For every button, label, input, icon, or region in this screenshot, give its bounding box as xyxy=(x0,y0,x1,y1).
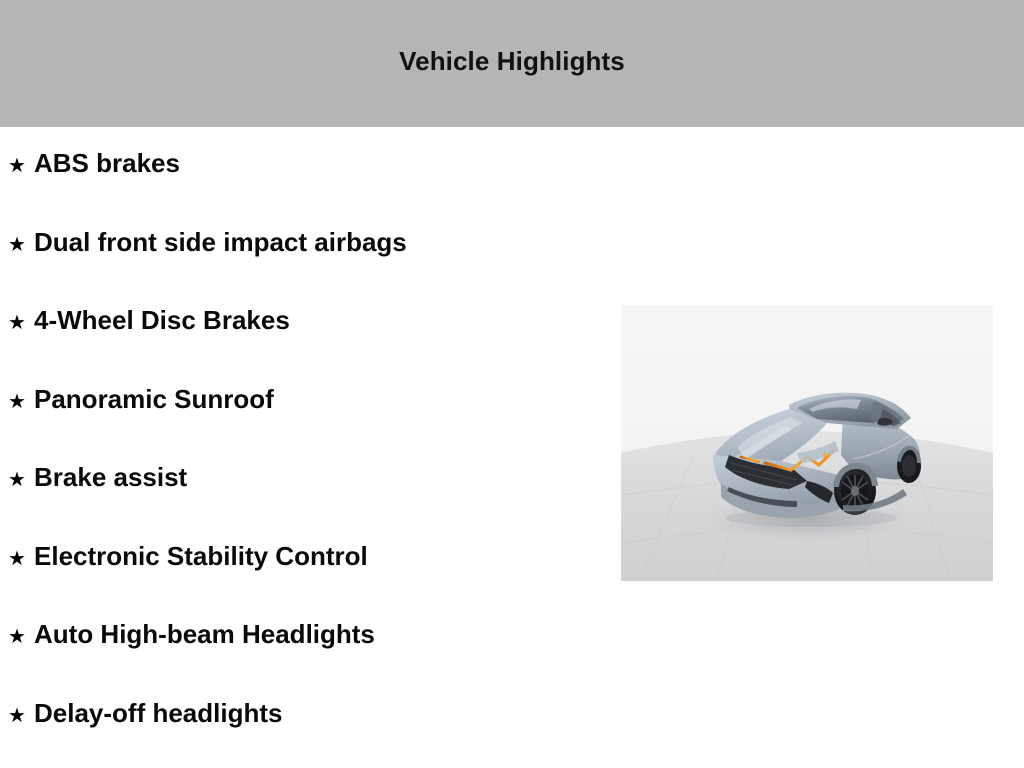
list-item-label: Delay-off headlights xyxy=(34,700,282,726)
list-item: ★ Brake assist xyxy=(0,464,600,543)
star-icon: ★ xyxy=(0,234,34,254)
list-item: ★ ABS brakes xyxy=(0,150,600,229)
list-item-label: Panoramic Sunroof xyxy=(34,386,274,412)
list-item: ★ Electronic Stability Control xyxy=(0,543,600,622)
list-item: ★ Panoramic Sunroof xyxy=(0,386,600,465)
list-item-label: Brake assist xyxy=(34,464,187,490)
list-item: ★ Dual front side impact airbags xyxy=(0,229,600,308)
vehicle-photo xyxy=(621,305,993,581)
list-item: ★ Auto High-beam Headlights xyxy=(0,621,600,700)
list-item-label: Dual front side impact airbags xyxy=(34,229,407,255)
list-item-label: ABS brakes xyxy=(34,150,180,176)
star-icon: ★ xyxy=(0,391,34,411)
vehicle-highlights-list: ★ ABS brakes ★ Dual front side impact ai… xyxy=(0,150,600,768)
star-icon: ★ xyxy=(0,626,34,646)
list-item-label: Auto High-beam Headlights xyxy=(34,621,375,647)
list-item-label: Electronic Stability Control xyxy=(34,543,368,569)
header-banner: Vehicle Highlights xyxy=(0,0,1024,127)
vehicle-photo-image xyxy=(621,305,993,581)
star-icon: ★ xyxy=(0,155,34,175)
star-icon: ★ xyxy=(0,705,34,725)
page-title: Vehicle Highlights xyxy=(399,48,625,80)
star-icon: ★ xyxy=(0,548,34,568)
list-item-label: 4-Wheel Disc Brakes xyxy=(34,307,290,333)
vehicle-highlights-page: Vehicle Highlights ★ ABS brakes ★ Dual f… xyxy=(0,0,1024,768)
list-item: ★ 4-Wheel Disc Brakes xyxy=(0,307,600,386)
star-icon: ★ xyxy=(0,469,34,489)
list-item: ★ Delay-off headlights xyxy=(0,700,600,768)
star-icon: ★ xyxy=(0,312,34,332)
